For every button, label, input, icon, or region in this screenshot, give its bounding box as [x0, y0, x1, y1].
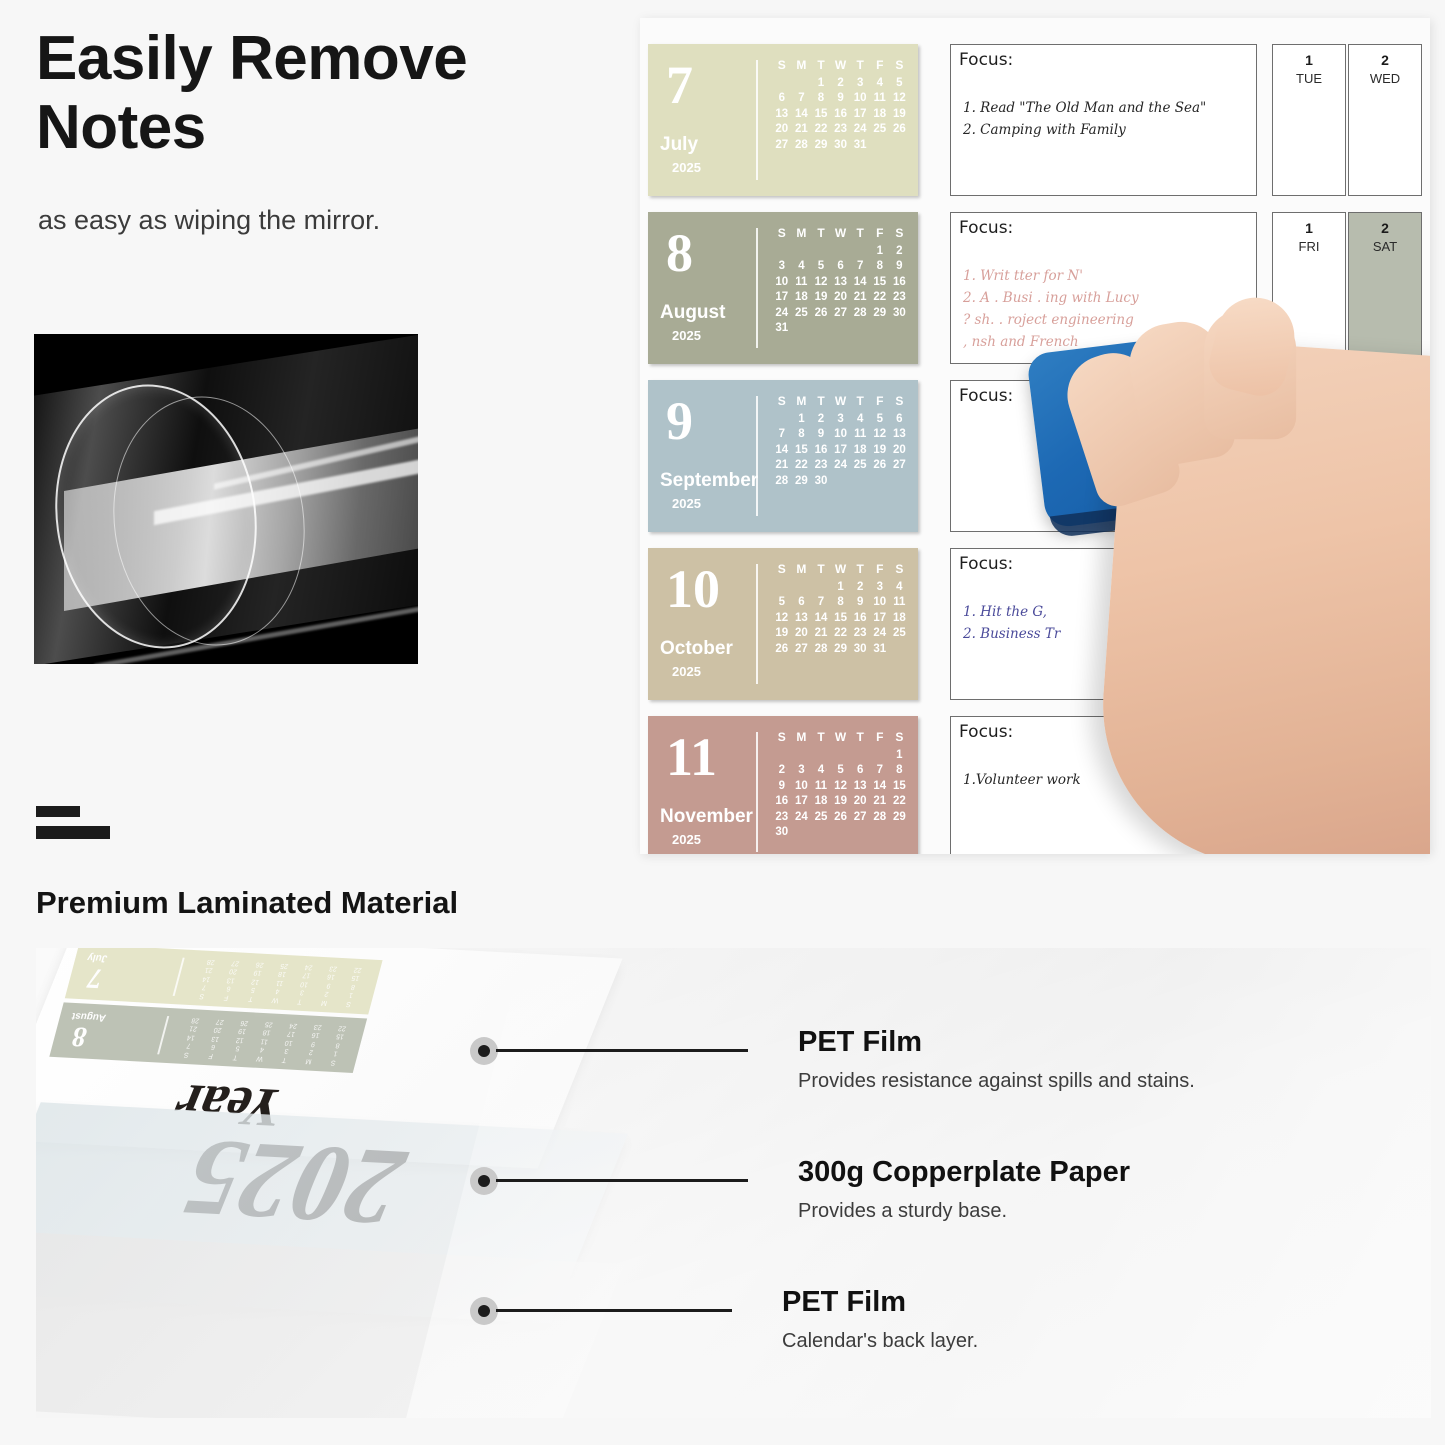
date-cell: 16: [811, 443, 831, 459]
date-cell: 24: [870, 626, 890, 642]
date-cell: 21: [772, 458, 792, 474]
mini-date-cell: 15: [342, 972, 369, 982]
date-cell: 14: [850, 275, 870, 291]
day-of-week-header: F: [870, 562, 890, 580]
day-of-week-header: T: [850, 394, 870, 412]
date-cell-empty: [772, 76, 792, 92]
date-cell: 19: [831, 794, 851, 810]
date-cell: 30: [890, 306, 910, 322]
day-of-week-header: W: [831, 730, 851, 748]
month-number: 9: [666, 394, 693, 448]
date-cell: 15: [870, 275, 890, 291]
mini-date-cell: W: [262, 994, 289, 1004]
date-cell: 18: [870, 107, 890, 123]
date-cell: 17: [870, 611, 890, 627]
callout-description: Calendar's back layer.: [782, 1330, 978, 1353]
mini-date-cell: 4: [264, 986, 291, 996]
day-of-week-header: F: [870, 226, 890, 244]
mini-date-cell: 6: [215, 983, 242, 993]
date-cell: 22: [890, 794, 910, 810]
month-year: 2025: [672, 664, 701, 679]
day-of-week-header: T: [850, 226, 870, 244]
day-of-week-header: M: [792, 562, 812, 580]
mini-month-name: August: [71, 1010, 108, 1023]
date-cell: 26: [831, 810, 851, 826]
date-cell: 17: [850, 107, 870, 123]
month-divider-rule: [756, 396, 758, 516]
mini-month-grid: SMTWTFS123456789101112131415161718192021…: [168, 1014, 356, 1066]
callout-title: PET Film: [798, 1026, 922, 1059]
date-cell: 8: [811, 91, 831, 107]
focus-label: Focus:: [959, 218, 1013, 238]
date-cell: 24: [772, 306, 792, 322]
date-cell: 2: [811, 412, 831, 428]
date-cell: 8: [890, 763, 910, 779]
date-cell: 17: [831, 443, 851, 459]
date-cell: 3: [870, 580, 890, 596]
calendar-row: 8August2025SMTWTFS1234567891011121314151…: [648, 212, 1430, 367]
day-of-week-header: F: [870, 730, 890, 748]
mini-date-cell: 14: [178, 1032, 205, 1042]
mini-date-cell: F: [198, 1050, 225, 1060]
mini-date-cell: 19: [229, 1026, 256, 1036]
date-cell-empty: [831, 748, 851, 764]
date-cell: 27: [831, 306, 851, 322]
mini-month-name: July: [86, 952, 109, 964]
date-cell: 7: [850, 259, 870, 275]
callout-marker-icon: [470, 1037, 498, 1065]
day-of-week-header: S: [890, 562, 910, 580]
mini-date-cell: 15: [327, 1031, 354, 1041]
date-cell-empty: [792, 748, 812, 764]
date-cell-empty: [792, 244, 812, 260]
callout-title: 300g Copperplate Paper: [798, 1156, 1130, 1189]
callout-dot-icon: [478, 1175, 490, 1187]
date-cell: 6: [831, 259, 851, 275]
date-cell: 13: [850, 779, 870, 795]
day-weekday-label: WED: [1349, 71, 1421, 86]
date-cell: 13: [831, 275, 851, 291]
date-cell: 29: [811, 138, 831, 154]
mini-date-cell: 3: [289, 987, 316, 997]
date-cell: 3: [831, 412, 851, 428]
date-cell: 8: [792, 427, 812, 443]
date-cell: 23: [850, 626, 870, 642]
mini-month-rule: [173, 958, 185, 996]
date-cell: 22: [811, 122, 831, 138]
mini-date-cell: 28: [182, 1014, 209, 1024]
mini-date-cell: 12: [242, 976, 269, 986]
date-cell-empty: [772, 412, 792, 428]
date-cell: 22: [831, 626, 851, 642]
date-cell: 25: [870, 122, 890, 138]
mini-date-cell: 6: [200, 1041, 227, 1051]
date-cell: 3: [792, 763, 812, 779]
date-cell: 13: [772, 107, 792, 123]
date-cell: 28: [850, 306, 870, 322]
date-cell-empty: [792, 580, 812, 596]
mini-date-cell: 26: [247, 959, 274, 969]
date-cell: 24: [831, 458, 851, 474]
date-cell: 10: [850, 91, 870, 107]
mini-date-cell: 11: [251, 1035, 278, 1045]
mini-date-cell: 12: [227, 1034, 254, 1044]
date-cell: 28: [792, 138, 812, 154]
date-cell: 31: [772, 321, 792, 337]
date-cell: 6: [850, 763, 870, 779]
date-cell: 20: [890, 443, 910, 459]
date-cell: 24: [850, 122, 870, 138]
month-date-grid: SMTWTFS123456789101112131415161718192021…: [772, 394, 910, 489]
month-year: 2025: [672, 328, 701, 343]
date-cell: 25: [811, 810, 831, 826]
day-of-week-header: W: [831, 58, 851, 76]
date-cell: 8: [870, 259, 890, 275]
date-cell: 21: [792, 122, 812, 138]
date-cell: 5: [811, 259, 831, 275]
date-cell: 5: [831, 763, 851, 779]
mini-month-number: 7: [84, 961, 106, 994]
date-cell: 16: [890, 275, 910, 291]
mini-date-cell: M: [311, 997, 338, 1007]
date-cell: 30: [772, 825, 792, 841]
mini-date-cell: 13: [218, 974, 245, 984]
date-cell: 26: [870, 458, 890, 474]
date-cell: 2: [772, 763, 792, 779]
mini-date-cell: 7: [176, 1040, 203, 1050]
date-cell: 26: [811, 306, 831, 322]
date-cell: 27: [772, 138, 792, 154]
mini-date-cell: 21: [196, 965, 223, 975]
focus-note-box[interactable]: Focus:1. Read "The Old Man and the Sea"2…: [950, 44, 1257, 196]
date-cell: 14: [792, 107, 812, 123]
date-cell: 20: [772, 122, 792, 138]
mini-date-cell: 28: [198, 956, 225, 966]
date-cell: 30: [831, 138, 851, 154]
date-cell: 5: [772, 595, 792, 611]
mini-month-rule: [158, 1016, 170, 1054]
callout-marker-icon: [470, 1167, 498, 1195]
day-of-week-header: T: [811, 730, 831, 748]
date-cell: 22: [792, 458, 812, 474]
month-divider-rule: [756, 60, 758, 180]
focus-label: Focus:: [959, 554, 1013, 574]
date-cell: 6: [792, 595, 812, 611]
date-cell-empty: [811, 580, 831, 596]
mini-date-cell: 3: [273, 1045, 300, 1055]
mini-date-cell: 1: [338, 990, 365, 1000]
day-column[interactable]: 2WED: [1348, 44, 1422, 196]
date-cell: 30: [850, 642, 870, 658]
day-number: 1: [1273, 220, 1345, 236]
divider-bar-long: [36, 826, 110, 839]
mini-date-cell: W: [247, 1053, 274, 1063]
mini-date-cell: 24: [296, 961, 323, 971]
day-of-week-header: S: [772, 730, 792, 748]
month-date-grid: SMTWTFS123456789101112131415161718192021…: [772, 562, 910, 657]
mini-date-cell: 9: [316, 980, 343, 990]
date-cell: 18: [890, 611, 910, 627]
date-cell: 5: [890, 76, 910, 92]
date-cell: 2: [850, 580, 870, 596]
mirrored-mini-calendar: SMTWTFS123456789101112131415161718192021…: [36, 948, 385, 1073]
day-of-week-header: T: [850, 58, 870, 76]
date-cell: 7: [772, 427, 792, 443]
date-cell: 4: [792, 259, 812, 275]
day-column[interactable]: 1TUE: [1272, 44, 1346, 196]
day-of-week-header: F: [870, 58, 890, 76]
date-cell: 7: [811, 595, 831, 611]
date-cell: 6: [890, 412, 910, 428]
date-cell: 25: [792, 306, 812, 322]
date-cell: 12: [890, 91, 910, 107]
month-block-october: 10October2025SMTWTFS12345678910111213141…: [648, 548, 918, 700]
mini-date-cell: 22: [345, 964, 372, 974]
mini-date-cell: 5: [224, 1043, 251, 1053]
date-cell: 22: [870, 290, 890, 306]
mini-date-cell: 17: [293, 970, 320, 980]
mini-month-grid: SMTWTFS123456789101112131415161718192021…: [184, 956, 372, 1008]
date-cell-empty: [772, 580, 792, 596]
date-cell: 19: [890, 107, 910, 123]
mini-date-cell: 1: [322, 1048, 349, 1058]
date-cell: 23: [890, 290, 910, 306]
date-cell: 31: [850, 138, 870, 154]
day-weekday-label: SAT: [1349, 239, 1421, 254]
day-of-week-header: S: [772, 58, 792, 76]
day-of-week-header: T: [811, 394, 831, 412]
date-cell-empty: [792, 76, 812, 92]
date-cell: 4: [850, 412, 870, 428]
date-cell: 16: [831, 107, 851, 123]
month-block-august: 8August2025SMTWTFS1234567891011121314151…: [648, 212, 918, 364]
date-cell: 27: [890, 458, 910, 474]
mini-date-cell: 11: [267, 977, 294, 987]
day-of-week-header: M: [792, 58, 812, 76]
date-cell: 18: [850, 443, 870, 459]
mini-date-cell: 24: [280, 1020, 307, 1030]
focus-note-line: 1. Read "The Old Man and the Sea": [963, 97, 1250, 119]
month-block-november: 11November2025SMTWTFS1234567891011121314…: [648, 716, 918, 854]
date-cell-empty: [772, 244, 792, 260]
day-of-week-header: M: [792, 394, 812, 412]
date-cell-empty: [850, 244, 870, 260]
month-date-grid: SMTWTFS123456789101112131415161718192021…: [772, 226, 910, 337]
page-subtitle: as easy as wiping the mirror.: [38, 205, 598, 236]
callout-leader-line: [496, 1309, 732, 1312]
date-cell: 11: [890, 595, 910, 611]
day-weekday-label: TUE: [1273, 71, 1345, 86]
mini-date-cell: 27: [207, 1016, 234, 1026]
mini-date-cell: 16: [318, 971, 345, 981]
callout-leader-line: [496, 1179, 748, 1182]
date-cell: 29: [890, 810, 910, 826]
mini-date-cell: 26: [231, 1017, 258, 1027]
date-cell: 19: [870, 443, 890, 459]
calendar-row: 7July2025SMTWTFS123456789101112131415161…: [648, 44, 1430, 199]
mini-date-cell: 2: [298, 1047, 325, 1057]
day-of-week-header: S: [890, 730, 910, 748]
page-title: Easily Remove Notes: [36, 24, 596, 163]
date-cell: 23: [811, 458, 831, 474]
callout-description: Provides a sturdy base.: [798, 1200, 1007, 1223]
date-cell: 17: [792, 794, 812, 810]
month-date-grid: SMTWTFS123456789101112131415161718192021…: [772, 58, 910, 153]
mini-date-cell: 8: [325, 1039, 352, 1049]
date-cell: 11: [870, 91, 890, 107]
date-cell: 6: [772, 91, 792, 107]
date-cell: 23: [772, 810, 792, 826]
date-cell: 1: [831, 580, 851, 596]
day-of-week-header: T: [811, 562, 831, 580]
mini-date-cell: 21: [180, 1023, 207, 1033]
mini-date-cell: T: [238, 993, 265, 1003]
date-cell: 29: [831, 642, 851, 658]
day-of-week-header: S: [772, 562, 792, 580]
date-cell: 23: [831, 122, 851, 138]
date-cell: 14: [870, 779, 890, 795]
day-of-week-header: F: [870, 394, 890, 412]
month-year: 2025: [672, 496, 701, 511]
calendar-photo-panel: 7July2025SMTWTFS123456789101112131415161…: [640, 18, 1430, 854]
date-cell: 4: [811, 763, 831, 779]
mini-date-cell: 23: [320, 963, 347, 973]
date-cell: 13: [890, 427, 910, 443]
date-cell: 20: [792, 626, 812, 642]
date-cell: 1: [890, 748, 910, 764]
date-cell: 1: [792, 412, 812, 428]
day-of-week-header: S: [772, 226, 792, 244]
date-cell: 26: [890, 122, 910, 138]
mini-month-number: 8: [69, 1019, 91, 1052]
mini-month-august: SMTWTFS123456789101112131415161718192021…: [49, 1002, 367, 1073]
mini-date-cell: 22: [329, 1022, 356, 1032]
focus-handwritten-notes: 1. Read "The Old Man and the Sea"2. Camp…: [963, 97, 1250, 141]
date-cell: 12: [870, 427, 890, 443]
month-number: 8: [666, 226, 693, 280]
day-of-week-header: M: [792, 730, 812, 748]
mini-date-cell: 8: [340, 981, 367, 991]
month-date-grid: SMTWTFS123456789101112131415161718192021…: [772, 730, 910, 841]
date-cell: 15: [890, 779, 910, 795]
date-cell: 15: [811, 107, 831, 123]
mini-date-cell: 4: [249, 1044, 276, 1054]
day-of-week-header: S: [890, 394, 910, 412]
date-cell: 17: [772, 290, 792, 306]
mini-date-cell: 13: [202, 1033, 229, 1043]
date-cell: 31: [870, 642, 890, 658]
hand-wiping-calendar: [1092, 335, 1430, 854]
date-cell: 9: [811, 427, 831, 443]
focus-note-line: 2. Camping with Family: [963, 119, 1250, 141]
day-of-week-header: W: [831, 562, 851, 580]
date-cell-empty: [870, 748, 890, 764]
date-cell: 10: [831, 427, 851, 443]
month-year: 2025: [672, 832, 701, 847]
month-block-september: 9September2025SMTWTFS1234567891011121314…: [648, 380, 918, 532]
mini-date-cell: 25: [271, 960, 298, 970]
mini-date-cell: 10: [276, 1037, 303, 1047]
date-cell: 9: [772, 779, 792, 795]
divider-bar-short: [36, 806, 80, 817]
month-divider-rule: [756, 732, 758, 852]
mini-date-cell: T: [287, 995, 314, 1005]
date-cell: 25: [890, 626, 910, 642]
day-of-week-header: T: [850, 730, 870, 748]
date-cell: 11: [792, 275, 812, 291]
date-cell: 29: [792, 474, 812, 490]
date-cell: 15: [792, 443, 812, 459]
day-of-week-header: T: [811, 58, 831, 76]
date-cell: 9: [890, 259, 910, 275]
date-cell: 12: [772, 611, 792, 627]
mini-date-cell: 20: [220, 966, 247, 976]
date-cell: 21: [811, 626, 831, 642]
date-cell-empty: [772, 748, 792, 764]
month-number: 7: [666, 58, 693, 112]
day-of-week-header: T: [811, 226, 831, 244]
date-cell: 10: [792, 779, 812, 795]
date-cell: 15: [831, 611, 851, 627]
mini-date-cell: 7: [191, 982, 218, 992]
callout-description: Provides resistance against spills and s…: [798, 1070, 1195, 1093]
mini-date-cell: 10: [291, 978, 318, 988]
date-cell: 28: [870, 810, 890, 826]
date-cell: 14: [811, 611, 831, 627]
date-cell: 2: [831, 76, 851, 92]
mini-date-cell: 18: [269, 968, 296, 978]
mini-date-cell: 19: [244, 967, 271, 977]
date-cell: 9: [831, 91, 851, 107]
month-year: 2025: [672, 160, 701, 175]
date-cell-empty: [811, 244, 831, 260]
day-weekday-label: FRI: [1273, 239, 1345, 254]
date-cell: 18: [792, 290, 812, 306]
date-cell: 29: [870, 306, 890, 322]
focus-note-line: 2. A . Busi . ing with Lucy: [963, 287, 1250, 309]
mini-date-cell: 5: [240, 984, 267, 994]
callout-leader-line: [496, 1049, 748, 1052]
mini-date-cell: 25: [256, 1018, 283, 1028]
mini-date-cell: 17: [278, 1028, 305, 1038]
mini-date-cell: 18: [253, 1027, 280, 1037]
mini-date-cell: T: [222, 1051, 249, 1061]
date-cell: 4: [870, 76, 890, 92]
date-cell: 2: [890, 244, 910, 260]
date-cell: 16: [772, 794, 792, 810]
date-cell: 9: [850, 595, 870, 611]
month-divider-rule: [756, 564, 758, 684]
day-of-week-header: W: [831, 226, 851, 244]
date-cell: 1: [811, 76, 831, 92]
focus-label: Focus:: [959, 386, 1013, 406]
mini-date-cell: S: [320, 1057, 347, 1067]
date-cell: 30: [811, 474, 831, 490]
date-cell: 20: [850, 794, 870, 810]
callout-title: PET Film: [782, 1286, 906, 1319]
day-of-week-header: S: [890, 58, 910, 76]
day-of-week-header: W: [831, 394, 851, 412]
date-cell: 11: [850, 427, 870, 443]
day-column[interactable]: 2SAT: [1348, 212, 1422, 364]
date-cell: 3: [850, 76, 870, 92]
mini-date-cell: 20: [205, 1024, 232, 1034]
month-block-july: 7July2025SMTWTFS123456789101112131415161…: [648, 44, 918, 196]
date-cell: 13: [792, 611, 812, 627]
focus-label: Focus:: [959, 722, 1013, 742]
mini-date-cell: 16: [302, 1030, 329, 1040]
date-cell: 8: [831, 595, 851, 611]
